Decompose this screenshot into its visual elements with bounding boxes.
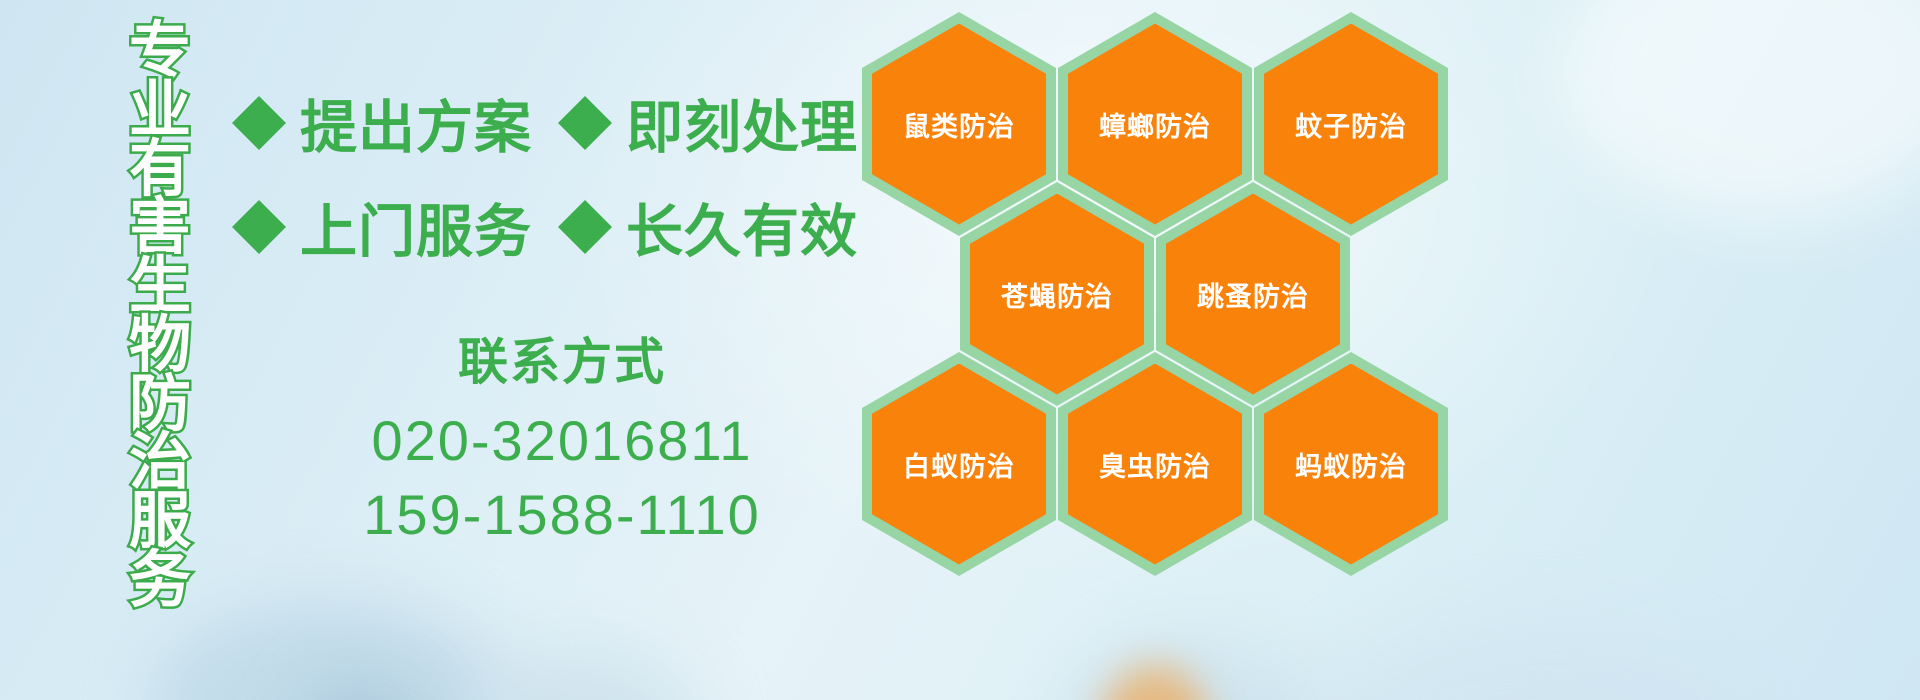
vertical-headline-char: 物 [129,316,191,377]
diamond-bullet-icon [558,173,612,227]
vertical-headline-char: 生 [129,257,191,318]
background-blur-shape [300,680,420,700]
vertical-headline-char: 害 [129,198,191,259]
diamond-bullet-icon [232,173,286,227]
hex-label: 蚊子防治 [1295,105,1407,144]
feature-item-immediate-handling: 即刻处理 [558,82,858,164]
hex-inner: 苍蝇防治 [970,194,1144,395]
promo-banner: 专 业 有 害 生 物 防 治 服 务 提出方案 即刻处理 上门服务 [0,0,1920,700]
vertical-headline-char: 专 [129,22,191,83]
phone-number-mobile[interactable]: 159-1588-1110 [232,478,892,552]
hex-label: 白蚁防治 [903,445,1015,484]
feature-item-door-to-door: 上门服务 [232,186,532,268]
hex-label: 蚂蚁防治 [1295,445,1407,484]
hex-label: 跳蚤防治 [1197,275,1309,314]
background-blur-shape [1060,640,1320,700]
feature-row: 提出方案 即刻处理 [232,82,872,164]
contact-title: 联系方式 [232,322,892,394]
background-blur-shape [1100,665,1210,700]
vertical-headline: 专 业 有 害 生 物 防 治 服 务 [112,22,208,610]
hex-label: 臭虫防治 [1099,445,1211,484]
vertical-headline-char: 防 [129,375,191,436]
hex-inner: 蚂蚁防治 [1264,364,1438,565]
vertical-headline-char: 服 [129,492,191,553]
background-blur-shape [470,650,700,700]
background-blur-shape [1320,620,1740,700]
hex-label: 苍蝇防治 [1001,275,1113,314]
hex-inner: 臭虫防治 [1068,364,1242,565]
vertical-headline-char: 业 [129,81,191,142]
diamond-bullet-icon [558,69,612,123]
hex-label: 蟑螂防治 [1099,105,1211,144]
feature-label: 上门服务 [300,186,532,268]
feature-item-propose-plan: 提出方案 [232,82,532,164]
feature-item-long-lasting: 长久有效 [558,186,858,268]
feature-row: 上门服务 长久有效 [232,186,872,268]
contact-block: 联系方式 020-32016811 159-1588-1110 [232,322,892,552]
service-hex-grid: 鼠类防治 蟑螂防治 蚊子防治 苍蝇防治 跳蚤防治 白蚁防治 [862,4,1462,564]
hex-inner: 蟑螂防治 [1068,24,1242,225]
feature-label: 长久有效 [626,186,858,268]
vertical-headline-char: 有 [129,140,191,201]
background-blur-shape [1560,0,1920,220]
hex-inner: 跳蚤防治 [1166,194,1340,395]
feature-list: 提出方案 即刻处理 上门服务 长久有效 [232,82,872,290]
feature-label: 提出方案 [300,82,532,164]
feature-label: 即刻处理 [626,82,858,164]
diamond-bullet-icon [232,69,286,123]
vertical-headline-char: 务 [129,551,191,612]
hex-inner: 鼠类防治 [872,24,1046,225]
hex-inner: 蚊子防治 [1264,24,1438,225]
hex-inner: 白蚁防治 [872,364,1046,565]
phone-number-landline[interactable]: 020-32016811 [232,404,892,478]
vertical-headline-char: 治 [129,433,191,494]
background-blur-shape [150,600,510,700]
hex-label: 鼠类防治 [903,105,1015,144]
